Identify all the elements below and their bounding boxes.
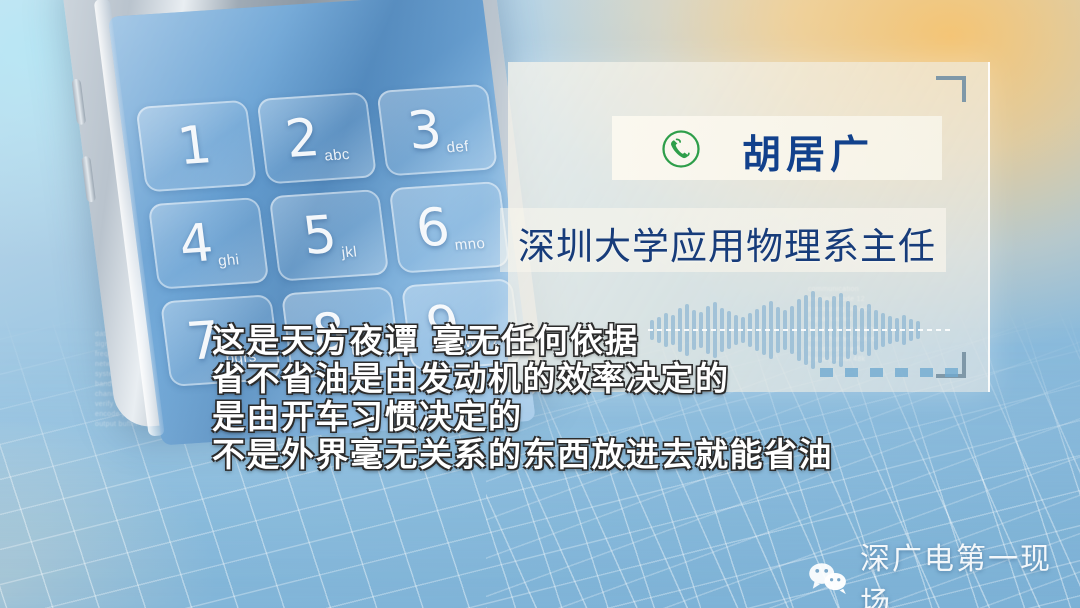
subtitle-line-1: 这是天方夜谭 毫无任何依据 [212,322,912,360]
watermark-label: 深广电第一现场 [860,534,1080,608]
subtitle-block: 这是天方夜谭 毫无任何依据 省不省油是由发动机的效率决定的 是由开车习惯决定的 … [212,322,912,474]
wechat-icon [806,561,850,595]
caller-title: 深圳大学应用物理系主任 [518,216,936,270]
corner-bracket-top-right-icon [936,76,966,102]
key-letters: mno [454,235,487,254]
key-number: 5 [300,209,340,263]
caller-name: 胡居广 [742,124,874,180]
keypad-key-3[interactable]: 3 def [377,84,498,177]
key-letters: abc [323,146,351,165]
subtitle-line-4: 不是外界毫无关系的东西放进去就能省油 [212,436,912,474]
key-letters: jkl [341,244,358,262]
phone-handset-icon [660,128,702,170]
keypad-key-5[interactable]: 5 jkl [268,189,389,282]
key-letters: def [446,138,470,156]
key-letters: ghi [217,251,240,269]
key-number: 3 [405,104,445,158]
keypad-key-1[interactable]: 1 [135,100,256,193]
subtitle-line-3: 是由开车习惯决定的 [212,398,912,436]
keypad-key-6[interactable]: 6 mno [389,181,510,274]
waveform-dot [920,368,933,377]
broadcast-screenshot: data transmission signal analysis 0.48 f… [0,0,1080,608]
waveform-dot [945,368,958,377]
key-number: 4 [176,217,216,271]
key-number: 2 [283,112,323,166]
channel-watermark: 深广电第一现场 [806,534,1080,608]
key-number: 1 [175,119,215,173]
subtitle-line-2: 省不省油是由发动机的效率决定的 [212,360,912,398]
keypad-key-2[interactable]: 2 abc [256,92,377,185]
keypad-key-4[interactable]: 4 ghi [148,197,269,290]
key-number: 6 [413,202,453,256]
